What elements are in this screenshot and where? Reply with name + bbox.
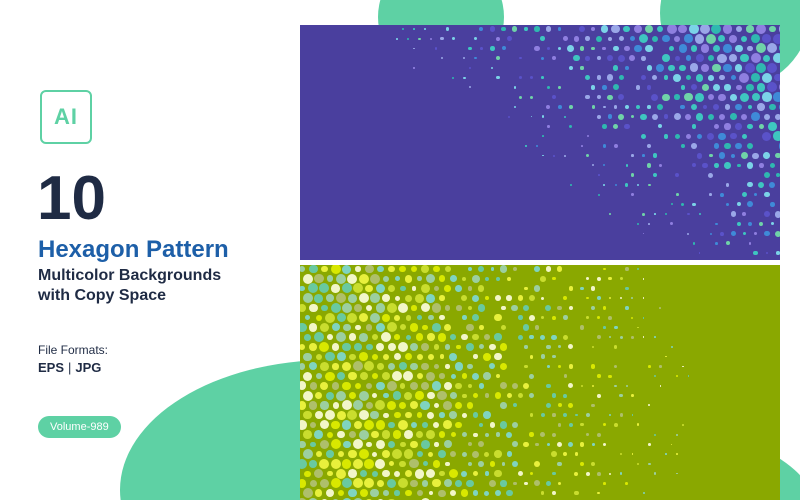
format-jpg: JPG [75, 360, 101, 375]
badge-label: AI [54, 104, 78, 130]
page-subtitle: Multicolor Backgrounds with Copy Space [38, 266, 288, 306]
poster-canvas: AI 10 Hexagon Pattern Multicolor Backgro… [0, 0, 800, 500]
page-title: Hexagon Pattern [38, 236, 229, 264]
dot-pattern-purple [300, 25, 780, 260]
dot-pattern-green [300, 265, 780, 500]
item-count: 10 [37, 168, 106, 230]
format-eps: EPS [38, 360, 64, 375]
info-panel: AI 10 Hexagon Pattern Multicolor Backgro… [0, 0, 300, 500]
subtitle-line-2: with Copy Space [38, 287, 166, 304]
volume-badge: Volume-989 [38, 416, 121, 438]
file-formats-value: EPS|JPG [38, 360, 101, 375]
file-formats-label: File Formats: [38, 343, 108, 357]
subtitle-line-1: Multicolor Backgrounds [38, 267, 221, 284]
format-separator: | [64, 360, 75, 375]
hexagon-pattern-purple-preview [300, 25, 780, 260]
adobe-illustrator-icon: AI [40, 90, 92, 144]
hexagon-pattern-green-preview [300, 265, 780, 500]
